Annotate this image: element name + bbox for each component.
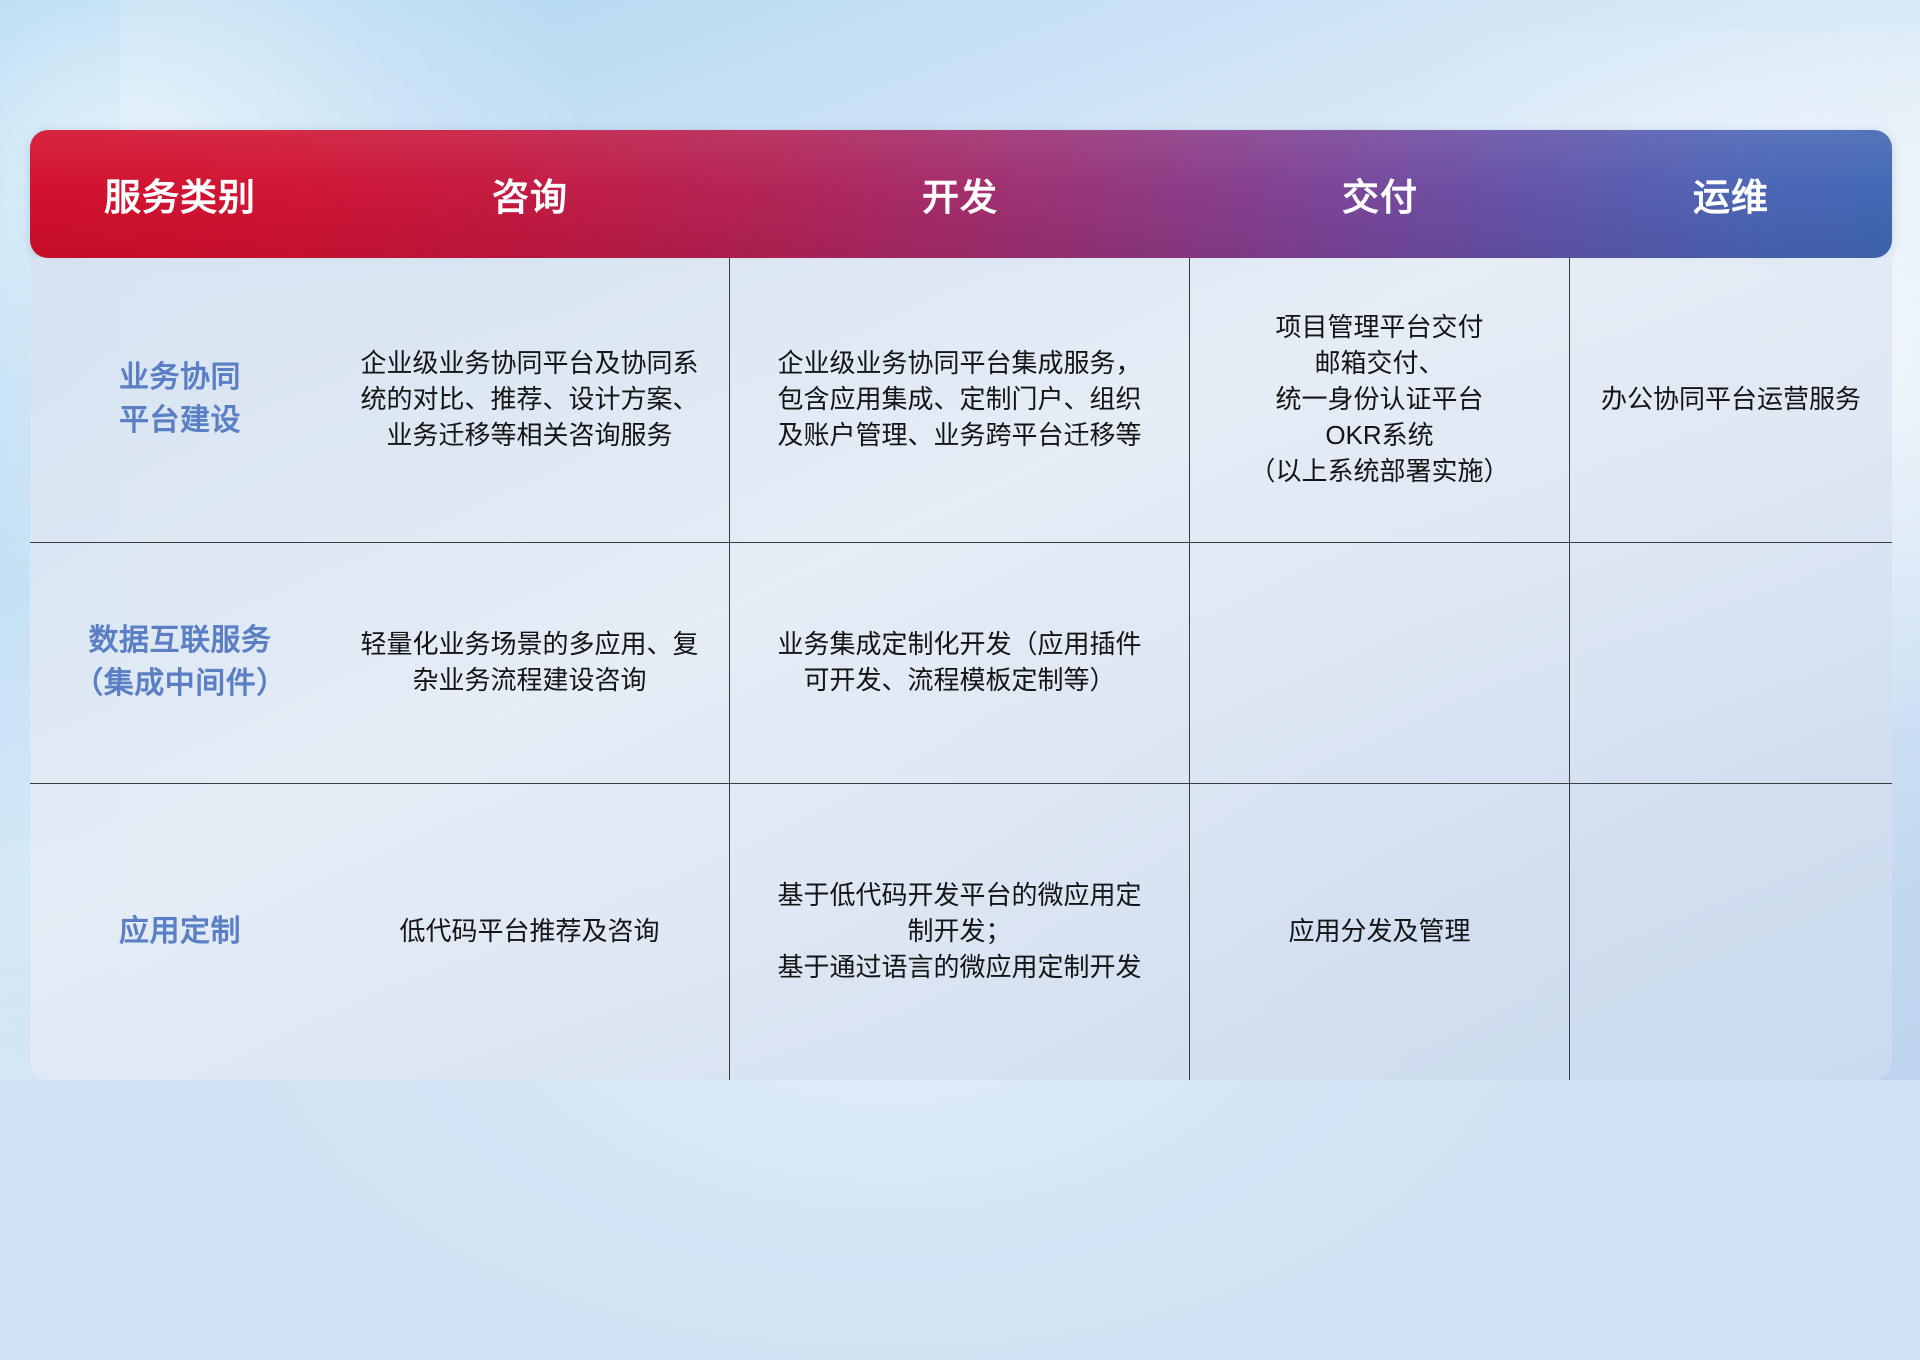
cell-operations [1570, 543, 1892, 783]
column-header-development: 开发 [730, 130, 1190, 258]
cell-consulting: 企业级业务协同平台及协同系 统的对比、推荐、设计方案、 业务迁移等相关咨询服务 [330, 258, 730, 542]
cell-development: 企业级业务协同平台集成服务， 包含应用集成、定制门户、组织 及账户管理、业务跨平… [730, 258, 1190, 542]
cell-development: 基于低代码开发平台的微应用定 制开发； 基于通过语言的微应用定制开发 [730, 784, 1190, 1080]
table-header-row: 服务类别 咨询 开发 交付 运维 [30, 130, 1892, 258]
cell-consulting: 低代码平台推荐及咨询 [330, 784, 730, 1080]
cell-operations: 办公协同平台运营服务 [1570, 258, 1892, 542]
column-header-consulting: 咨询 [330, 130, 730, 258]
table-body: 业务协同 平台建设 企业级业务协同平台及协同系 统的对比、推荐、设计方案、 业务… [30, 258, 1892, 1080]
table-row: 业务协同 平台建设 企业级业务协同平台及协同系 统的对比、推荐、设计方案、 业务… [30, 258, 1892, 542]
cell-delivery [1190, 543, 1570, 783]
cell-development: 业务集成定制化开发（应用插件 可开发、流程模板定制等） [730, 543, 1190, 783]
row-category-label: 应用定制 [30, 784, 330, 1080]
column-header-category: 服务类别 [30, 130, 330, 258]
cell-operations [1570, 784, 1892, 1080]
cell-consulting: 轻量化业务场景的多应用、复 杂业务流程建设咨询 [330, 543, 730, 783]
column-header-delivery: 交付 [1190, 130, 1570, 258]
row-category-label: 数据互联服务 （集成中间件） [30, 543, 330, 783]
row-category-label: 业务协同 平台建设 [30, 258, 330, 542]
service-matrix-table: 服务类别 咨询 开发 交付 运维 业务协同 平台建设 企业级业务协同平台及协同系… [30, 130, 1892, 950]
column-header-operations: 运维 [1570, 130, 1892, 258]
cell-delivery: 项目管理平台交付 邮箱交付、 统一身份认证平台 OKR系统 （以上系统部署实施） [1190, 258, 1570, 542]
table-row: 数据互联服务 （集成中间件） 轻量化业务场景的多应用、复 杂业务流程建设咨询 业… [30, 542, 1892, 783]
cell-delivery: 应用分发及管理 [1190, 784, 1570, 1080]
table-row: 应用定制 低代码平台推荐及咨询 基于低代码开发平台的微应用定 制开发； 基于通过… [30, 783, 1892, 1080]
